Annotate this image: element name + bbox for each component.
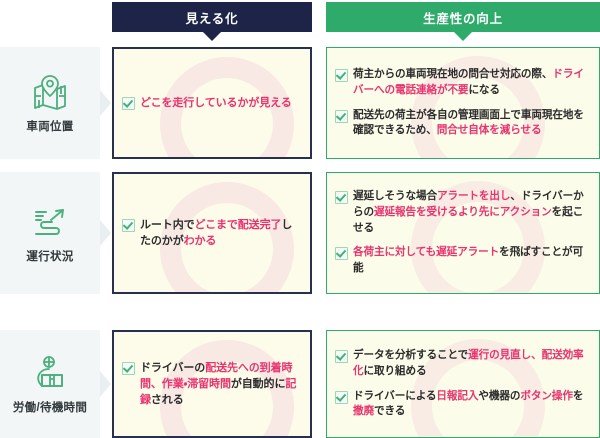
plain-text: に取り組める bbox=[364, 365, 427, 377]
header-bar-row: 見える化 生産性の向上 bbox=[0, 0, 600, 32]
plain-text: データを分析することで bbox=[353, 349, 468, 361]
card-productivity-working-waiting-time: データを分析することで運行の見直し、配送効率化に取り組めるドライバーによる日報記… bbox=[326, 330, 600, 438]
header-productivity: 生産性の向上 bbox=[326, 2, 600, 32]
plain-text: できる bbox=[374, 405, 405, 417]
card-productivity-operation-status: 遅延しそうな場合アラートを出し、ドライバーからの遅延報告を受けるより先にアクショ… bbox=[326, 172, 600, 294]
plain-text: になる bbox=[468, 84, 499, 96]
item-list-productivity-1: 荷主からの車両現在地の問合せ対応の際、ドライバーへの電話連絡が不要になる配送先の… bbox=[327, 48, 599, 158]
plain-text: が自動的に bbox=[231, 378, 286, 390]
checkmark-icon bbox=[335, 69, 348, 82]
highlighted-text: アラートを出し bbox=[437, 190, 510, 202]
item-list-productivity-2: 遅延しそうな場合アラートを出し、ドライバーからの遅延報告を受けるより先にアクショ… bbox=[327, 173, 599, 293]
checkmark-icon bbox=[122, 219, 135, 232]
item-list-visualization-3: ドライバーの配送先への到着時間、作業・滞留時間が自動的に記録される bbox=[114, 332, 310, 436]
highlighted-text: どこを走行しているかが bbox=[140, 97, 259, 109]
highlighted-text: 撤廃 bbox=[353, 405, 374, 417]
checkmark-icon bbox=[335, 247, 348, 260]
checklist-item-text: ドライバーによる日報記入や機器のボタン操作を撤廃できる bbox=[353, 389, 590, 420]
plain-text: や機器の bbox=[478, 390, 520, 402]
checklist-item-text: データを分析することで運行の見直し、配送効率化に取り組める bbox=[353, 348, 590, 379]
category-label-working-waiting-time: 労働/待機時間 bbox=[13, 399, 87, 415]
checklist-item-text: 各荷主に対しても遅延アラートを飛ばすことが可能 bbox=[353, 245, 590, 276]
checklist-item-text: 配送先の荷主が各自の管理画面上で車両現在地を確認できるため、問合せ自体を減らせる bbox=[353, 108, 590, 139]
header-productivity-label: 生産性の向上 bbox=[423, 8, 503, 27]
flow-arrow-icon-1 bbox=[100, 90, 111, 116]
category-label-vehicle-position: 車両位置 bbox=[26, 118, 73, 134]
category-panel-operation-status: 運行状況 bbox=[0, 172, 100, 294]
checklist-item: 遅延しそうな場合アラートを出し、ドライバーからの遅延報告を受けるより先にアクショ… bbox=[335, 189, 590, 236]
highlighted-text: 日報記入 bbox=[436, 390, 478, 402]
checklist-item-text: ルート内でどこまで配送完了したのかがわかる bbox=[140, 217, 301, 250]
header-visualization: 見える化 bbox=[112, 2, 312, 32]
plain-text: される bbox=[151, 394, 184, 406]
plain-text: を bbox=[573, 390, 584, 402]
highlighted-text: どこまで配送完了 bbox=[195, 219, 282, 231]
highlighted-text: 問合せ自体を減らせる bbox=[437, 124, 542, 136]
highlighted-text: 遅延報告を受けるより先にアクション bbox=[374, 206, 552, 218]
checkmark-icon bbox=[122, 362, 135, 375]
row-vehicle-position: 車両位置 どこを走行しているかが見える 荷主からの車両現在地の問合せ対応の際、ド… bbox=[0, 47, 600, 159]
route-arrow-icon bbox=[28, 202, 72, 244]
row-operation-status: 運行状況 ルート内でどこまで配送完了したのかがわかる 遅延しそうな場合アラートを… bbox=[0, 172, 600, 294]
category-label-operation-status: 運行状況 bbox=[26, 248, 73, 264]
checklist-item-text: 荷主からの車両現在地の問合せ対応の際、ドライバーへの電話連絡が不要になる bbox=[353, 67, 590, 98]
checkmark-icon bbox=[335, 191, 348, 204]
item-list-visualization-1: どこを走行しているかが見える bbox=[114, 49, 310, 157]
item-list-productivity-3: データを分析することで運行の見直し、配送効率化に取り組めるドライバーによる日報記… bbox=[327, 331, 599, 437]
plain-text: ドライバーの bbox=[140, 362, 205, 374]
checklist-item-text: どこを走行しているかが見える bbox=[140, 95, 292, 111]
header-visualization-pointer-icon bbox=[203, 32, 221, 41]
checkmark-icon bbox=[335, 350, 348, 363]
category-panel-working-waiting-time: 労働/待機時間 bbox=[0, 330, 100, 438]
highlighted-text: 各荷主に対しても遅延アラート bbox=[353, 246, 499, 258]
checklist-item: どこを走行しているかが見える bbox=[122, 95, 301, 111]
card-visualization-working-waiting-time: ドライバーの配送先への到着時間、作業・滞留時間が自動的に記録される bbox=[112, 330, 312, 438]
checklist-item: ルート内でどこまで配送完了したのかがわかる bbox=[122, 217, 301, 250]
card-productivity-vehicle-position: 荷主からの車両現在地の問合せ対応の際、ドライバーへの電話連絡が不要になる配送先の… bbox=[326, 47, 600, 159]
flow-arrow-icon-2 bbox=[100, 220, 111, 246]
checklist-item: ドライバーの配送先への到着時間、作業・滞留時間が自動的に記録される bbox=[122, 360, 301, 409]
highlighted-text: わかる bbox=[184, 235, 217, 247]
checkmark-icon bbox=[122, 97, 135, 110]
checklist-item: 配送先の荷主が各自の管理画面上で車両現在地を確認できるため、問合せ自体を減らせる bbox=[335, 108, 590, 139]
header-visualization-label: 見える化 bbox=[186, 8, 239, 27]
highlighted-text: 見える bbox=[259, 97, 291, 109]
map-pin-icon bbox=[28, 72, 72, 114]
item-list-visualization-2: ルート内でどこまで配送完了したのかがわかる bbox=[114, 174, 310, 292]
checklist-item-text: 遅延しそうな場合アラートを出し、ドライバーからの遅延報告を受けるより先にアクショ… bbox=[353, 189, 590, 236]
card-visualization-vehicle-position: どこを走行しているかが見える bbox=[112, 47, 312, 159]
checklist-item: データを分析することで運行の見直し、配送効率化に取り組める bbox=[335, 348, 590, 379]
plain-text: ルート内で bbox=[140, 219, 195, 231]
header-productivity-pointer-icon bbox=[454, 32, 472, 41]
row-working-waiting-time: 労働/待機時間 ドライバーの配送先への到着時間、作業・滞留時間が自動的に記録され… bbox=[0, 330, 600, 438]
checkmark-icon bbox=[335, 391, 348, 404]
flow-arrow-icon-3 bbox=[100, 371, 111, 397]
highlighted-text: ボタン操作 bbox=[520, 390, 572, 402]
worker-box-icon bbox=[28, 353, 72, 395]
checkmark-icon bbox=[335, 110, 348, 123]
checklist-item-text: ドライバーの配送先への到着時間、作業・滞留時間が自動的に記録される bbox=[140, 360, 301, 409]
plain-text: 遅延しそうな場合 bbox=[353, 190, 437, 202]
comparison-board: 見える化 生産性の向上 車両位置 どこを走行しているかが見える bbox=[0, 0, 600, 438]
category-panel-vehicle-position: 車両位置 bbox=[0, 47, 100, 159]
plain-text: 荷主からの車両現在地の問合せ対応の際、 bbox=[353, 68, 552, 80]
card-visualization-operation-status: ルート内でどこまで配送完了したのかがわかる bbox=[112, 172, 312, 294]
checklist-item: 各荷主に対しても遅延アラートを飛ばすことが可能 bbox=[335, 245, 590, 276]
checklist-item: ドライバーによる日報記入や機器のボタン操作を撤廃できる bbox=[335, 389, 590, 420]
checklist-item: 荷主からの車両現在地の問合せ対応の際、ドライバーへの電話連絡が不要になる bbox=[335, 67, 590, 98]
plain-text: ドライバーによる bbox=[353, 390, 436, 402]
